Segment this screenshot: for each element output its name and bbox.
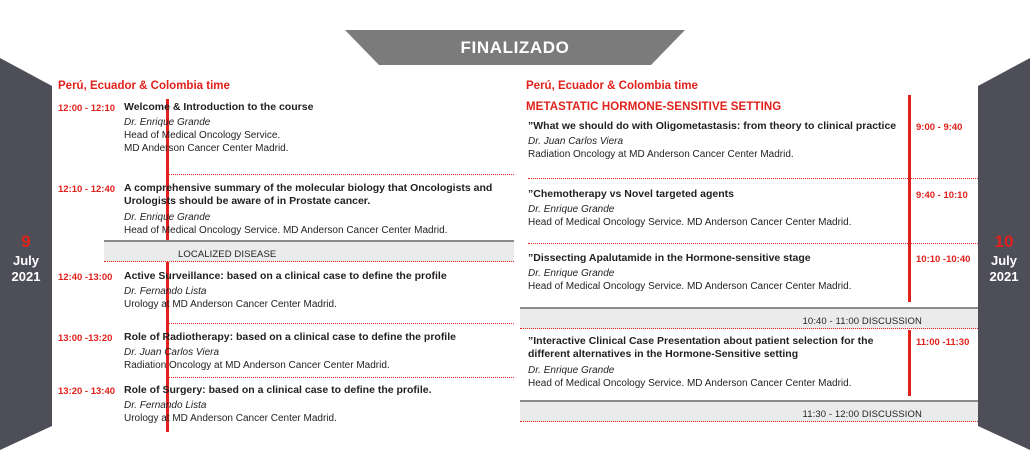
session-speaker: Dr. Enrique Grande [124, 211, 510, 224]
session-time: 13:20 - 13:40 [58, 386, 115, 397]
session-body: ”Chemotherapy vs Novel targeted agents D… [528, 188, 900, 229]
date-tab-left-year: 2021 [0, 269, 52, 285]
date-tab-right-month: July [978, 253, 1030, 269]
right-timezone-header: Perú, Ecuador & Colombia time [526, 80, 698, 92]
session-body: ”What we should do with Oligometastasis:… [528, 120, 900, 161]
session-time: 11:00 -11:30 [916, 337, 969, 348]
session-affiliation: Head of Medical Oncology Service. MD And… [528, 216, 900, 229]
right-column-red-rail-bottom [908, 330, 911, 396]
left-timezone-header: Perú, Ecuador & Colombia time [58, 80, 230, 92]
date-tab-right-day: 10 [978, 232, 1030, 253]
session-title: ”Chemotherapy vs Novel targeted agents [528, 188, 900, 201]
right-section-header: METASTATIC HORMONE-SENSITIVE SETTING [526, 101, 781, 113]
date-tab-left-inner: 9 July 2021 [0, 232, 52, 284]
session-body: Role of Radiotherapy: based on a clinica… [124, 331, 510, 372]
date-tab-july-10[interactable]: 10 July 2021 [978, 50, 1030, 450]
session-body: ”Interactive Clinical Case Presentation … [528, 335, 900, 390]
session-body: A comprehensive summary of the molecular… [124, 182, 510, 237]
session-affiliation: Head of Medical Oncology Service. MD And… [124, 224, 510, 237]
session-speaker: Dr. Enrique Grande [528, 364, 900, 377]
session-time: 10:10 -10:40 [916, 254, 970, 265]
session-time: 12:00 - 12:10 [58, 103, 115, 114]
discussion-band-label: 10:40 - 11:00 DISCUSSION [803, 316, 922, 327]
agenda-column-day-1: Perú, Ecuador & Colombia time 12:00 - 12… [52, 0, 514, 450]
date-tab-right-inner: 10 July 2021 [978, 232, 1030, 284]
session-title: Role of Surgery: based on a clinical cas… [124, 384, 510, 397]
session-title: ”Dissecting Apalutamide in the Hormone-s… [528, 252, 900, 265]
discussion-band-1: 10:40 - 11:00 DISCUSSION [520, 307, 978, 329]
session-body: Welcome & Introduction to the course Dr.… [124, 101, 510, 155]
session-title: Welcome & Introduction to the course [124, 101, 510, 114]
row-separator [528, 243, 978, 244]
session-body: Role of Surgery: based on a clinical cas… [124, 384, 510, 425]
discussion-band-2: 11:30 - 12:00 DISCUSSION [520, 400, 978, 422]
session-time: 9:00 - 9:40 [916, 122, 962, 133]
session-speaker: Dr. Juan Carlos Viera [124, 346, 510, 359]
row-separator [166, 323, 514, 324]
session-title: Active Surveillance: based on a clinical… [124, 270, 510, 283]
session-speaker: Dr. Fernando Lista [124, 399, 510, 412]
session-time: 12:40 -13:00 [58, 272, 112, 283]
row-separator [166, 377, 514, 378]
session-title: Role of Radiotherapy: based on a clinica… [124, 331, 510, 344]
date-tab-july-9[interactable]: 9 July 2021 [0, 50, 52, 450]
session-speaker: Dr. Enrique Grande [528, 267, 900, 280]
agenda-column-day-2: Perú, Ecuador & Colombia time METASTATIC… [520, 0, 978, 450]
row-separator [166, 174, 514, 175]
session-affiliation: Urology at MD Anderson Cancer Center Mad… [124, 298, 510, 311]
session-title: ”What we should do with Oligometastasis:… [528, 120, 900, 133]
session-speaker: Dr. Juan Carlos Viera [528, 135, 900, 148]
section-band-localized-disease: LOCALIZED DISEASE [104, 240, 514, 262]
session-speaker: Dr. Enrique Grande [528, 203, 900, 216]
session-time: 9:40 - 10:10 [916, 190, 968, 201]
row-separator [528, 178, 978, 179]
right-column-red-rail-top [908, 95, 911, 302]
date-tab-right-year: 2021 [978, 269, 1030, 285]
session-title: A comprehensive summary of the molecular… [124, 182, 510, 209]
session-affiliation: Head of Medical Oncology Service. MD And… [528, 377, 900, 390]
discussion-band-label: 11:30 - 12:00 DISCUSSION [803, 409, 922, 420]
session-affiliation: Urology at MD Anderson Cancer Center Mad… [124, 412, 510, 425]
date-tab-left-day: 9 [0, 232, 52, 253]
session-title: ”Interactive Clinical Case Presentation … [528, 335, 900, 362]
session-body: Active Surveillance: based on a clinical… [124, 270, 510, 311]
session-time: 13:00 -13:20 [58, 333, 112, 344]
session-body: ”Dissecting Apalutamide in the Hormone-s… [528, 252, 900, 293]
session-speaker: Dr. Fernando Lista [124, 285, 510, 298]
session-affiliation: Radiation Oncology at MD Anderson Cancer… [124, 359, 510, 372]
session-speaker: Dr. Enrique Grande [124, 116, 510, 129]
session-affiliation: Head of Medical Oncology Service. MD And… [124, 129, 510, 155]
session-time: 12:10 - 12:40 [58, 184, 115, 195]
session-affiliation: Head of Medical Oncology Service. MD And… [528, 280, 900, 293]
section-band-label: LOCALIZED DISEASE [178, 249, 276, 260]
session-affiliation: Radiation Oncology at MD Anderson Cancer… [528, 148, 900, 161]
date-tab-left-month: July [0, 253, 52, 269]
